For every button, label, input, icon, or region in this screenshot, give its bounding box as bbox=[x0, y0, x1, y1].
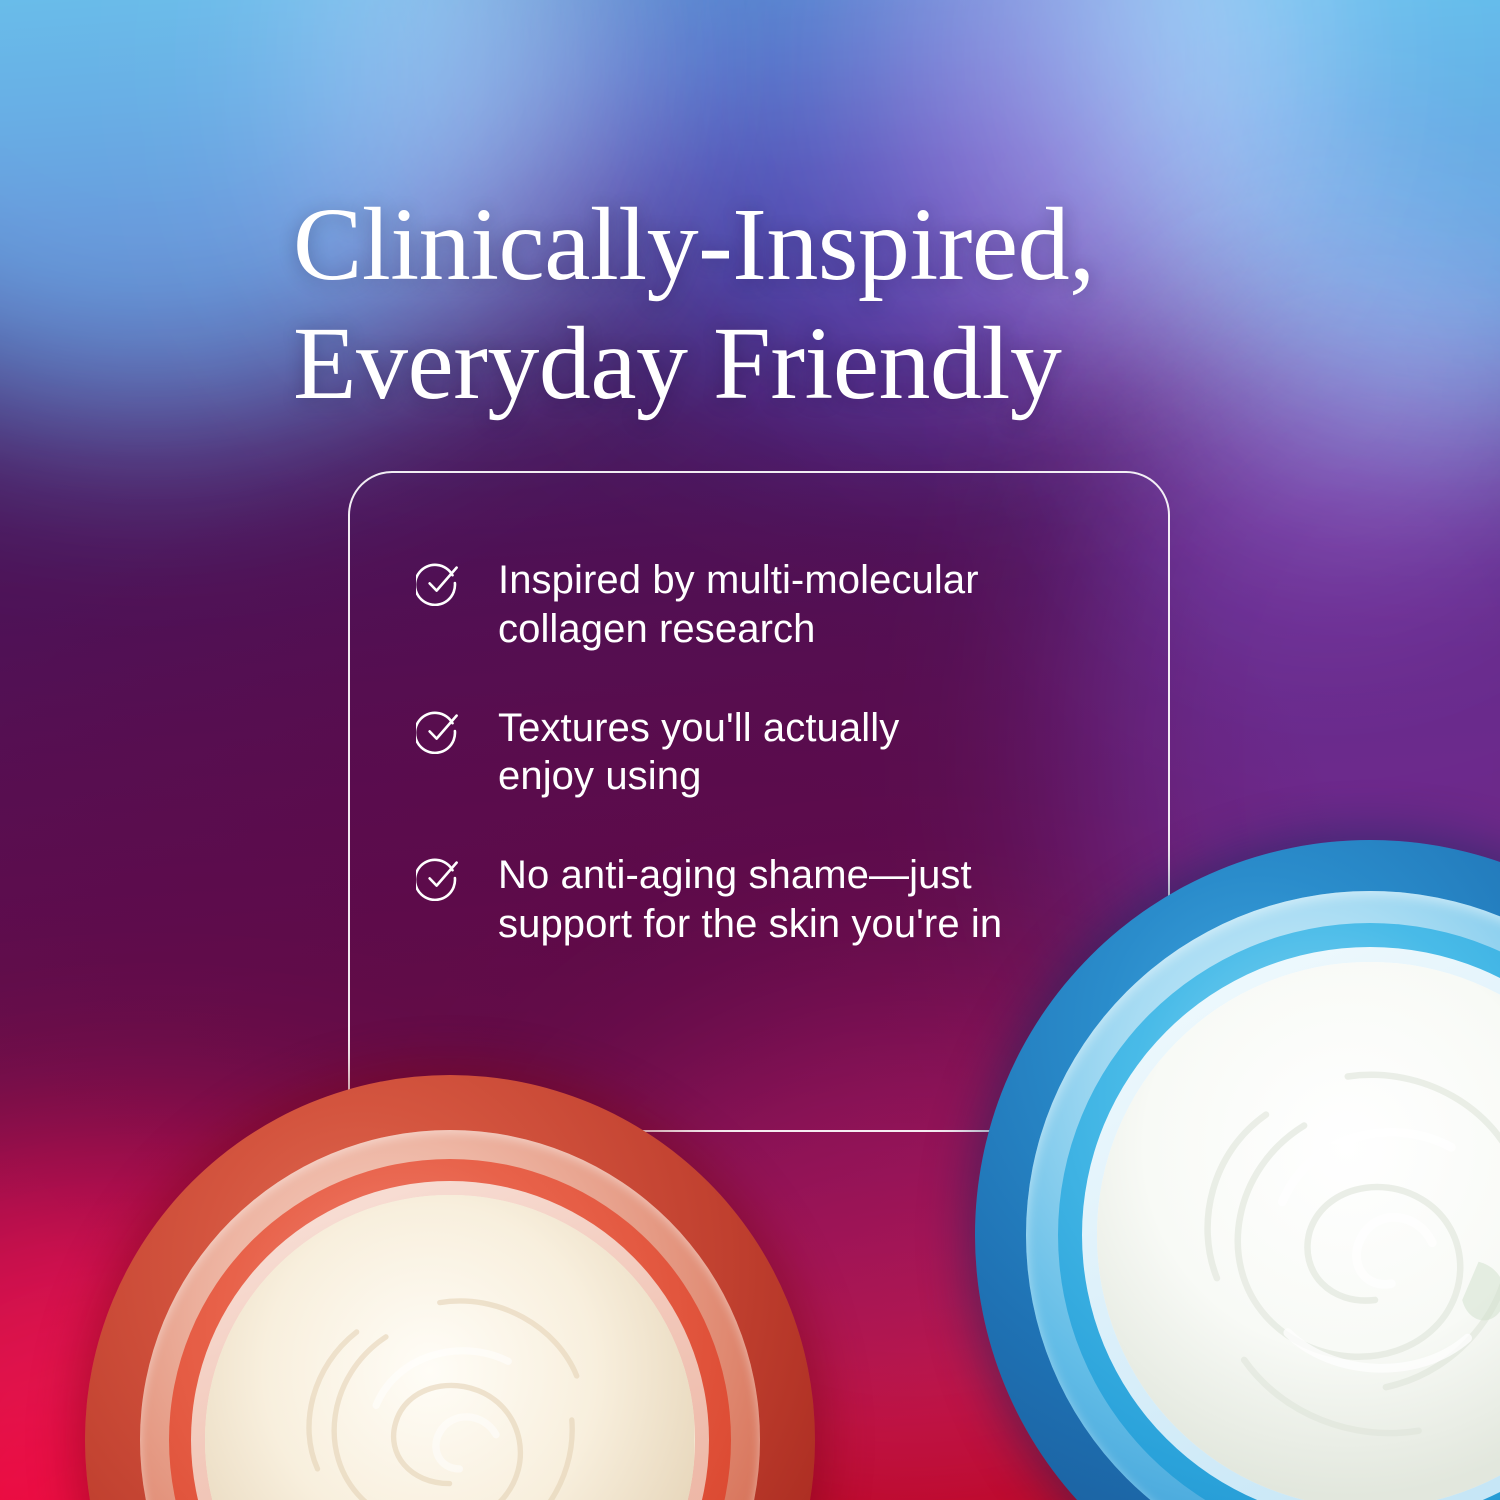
list-item: Textures you'll actually enjoy using bbox=[416, 704, 1116, 802]
list-item: No anti-aging shame—just support for the… bbox=[416, 851, 1116, 949]
check-circle-icon bbox=[416, 708, 462, 754]
list-item-label: Inspired by multi-molecular collagen res… bbox=[498, 556, 979, 654]
feature-list: Inspired by multi-molecular collagen res… bbox=[416, 556, 1116, 949]
red-cream-swirl bbox=[205, 1195, 694, 1500]
check-circle-icon bbox=[416, 855, 462, 901]
red-jar-cream bbox=[205, 1195, 694, 1500]
blue-cream-swirl bbox=[1097, 962, 1500, 1500]
page-title: Clinically-Inspired, Everyday Friendly bbox=[293, 186, 1293, 423]
list-item-label: Textures you'll actually enjoy using bbox=[498, 704, 899, 802]
list-item-label: No anti-aging shame—just support for the… bbox=[498, 851, 1002, 949]
check-circle-icon bbox=[416, 560, 462, 606]
promo-graphic: Clinically-Inspired, Everyday Friendly I… bbox=[0, 0, 1500, 1500]
blue-jar-cream bbox=[1097, 962, 1500, 1500]
list-item: Inspired by multi-molecular collagen res… bbox=[416, 556, 1116, 654]
